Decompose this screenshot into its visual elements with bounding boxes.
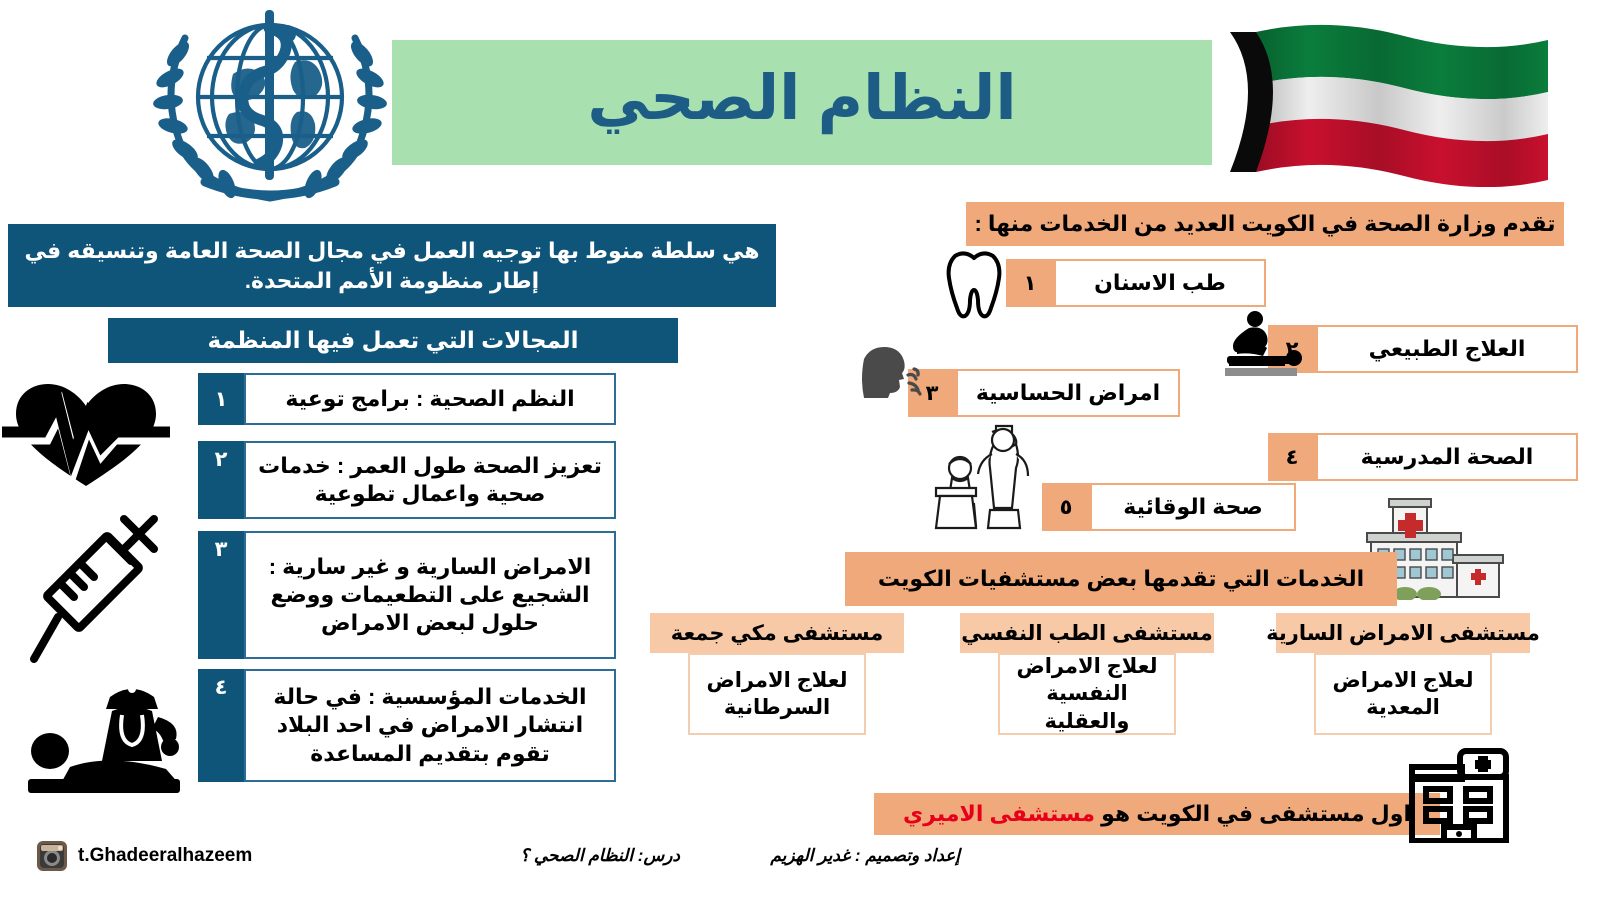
hospital-description: لعلاج الامراض السرطانية — [688, 653, 866, 735]
footer-handle[interactable]: t.Ghadeeralhazeem — [78, 841, 398, 871]
hospital-description: لعلاج الامراض النفسية والعقلية — [998, 653, 1176, 735]
first-hospital-prefix: اول مستشفى في الكويت هو — [1101, 801, 1411, 826]
area-number: ٣ — [198, 531, 244, 659]
service-number: ٥ — [1042, 483, 1090, 531]
who-logo — [145, 2, 395, 207]
hospital-card[interactable]: مستشفى مكي جمعة لعلاج الامراض السرطانية — [650, 613, 904, 735]
instagram-icon[interactable] — [36, 840, 68, 872]
sneezing-head-icon — [852, 345, 924, 400]
hospital-description: لعلاج الامراض المعدية — [1314, 653, 1492, 735]
page-title-banner: النظام الصحي — [392, 40, 1212, 165]
hospitals-header-text: الخدمات التي تقدمها بعض مستشفيات الكويت — [878, 566, 1364, 592]
area-label: الامراض السارية و غير سارية : الشجيع على… — [244, 531, 616, 659]
list-item[interactable]: تعزيز الصحة طول العمر : خدمات صحية واعما… — [198, 441, 616, 519]
kuwait-flag — [1218, 22, 1568, 187]
doctor-patient-icon — [10, 675, 185, 795]
who-areas-header-text: المجالات التي تعمل فيها المنظمة — [207, 327, 578, 354]
ministry-services-header: تقدم وزارة الصحة في الكويت العديد من الخ… — [966, 202, 1564, 246]
first-hospital-text: اول مستشفى في الكويت هو مستشفى الاميري — [903, 801, 1411, 827]
hospital-card[interactable]: مستشفى الطب النفسي لعلاج الامراض النفسية… — [960, 613, 1214, 735]
first-hospital-banner: اول مستشفى في الكويت هو مستشفى الاميري — [874, 793, 1440, 835]
service-label: العلاج الطبيعي — [1316, 325, 1578, 373]
hospital-name: مستشفى الطب النفسي — [960, 613, 1214, 653]
footer-credit: إعداد وتصميم : غدير الهزيم — [700, 841, 960, 871]
who-areas-header: المجالات التي تعمل فيها المنظمة — [108, 318, 678, 363]
who-definition-text: هي سلطة منوط بها توجيه العمل في مجال الص… — [22, 236, 762, 294]
area-number: ١ — [198, 373, 244, 425]
hospital-card[interactable]: مستشفى الامراض السارية لعلاج الامراض الم… — [1276, 613, 1530, 735]
hospital-outline-icon — [1404, 745, 1512, 843]
who-definition-box: هي سلطة منوط بها توجيه العمل في مجال الص… — [8, 224, 776, 307]
list-item[interactable]: امراض الحساسية ٣ — [908, 369, 1180, 417]
area-label: النظم الصحية : برامج توعية — [244, 373, 616, 425]
list-item[interactable]: النظم الصحية : برامج توعية ١ — [198, 373, 616, 425]
service-number: ٤ — [1268, 433, 1316, 481]
infographic-page: النظام الصحي — [0, 0, 1600, 900]
service-label: الصحة المدرسية — [1316, 433, 1578, 481]
heartbeat-icon — [2, 378, 170, 488]
service-label: طب الاسنان — [1054, 259, 1266, 307]
service-label: امراض الحساسية — [956, 369, 1180, 417]
list-item[interactable]: الصحة المدرسية ٤ — [1268, 433, 1578, 481]
area-number: ٤ — [198, 669, 244, 782]
page-title: النظام الصحي — [587, 68, 1016, 130]
list-item[interactable]: الخدمات المؤسسية : في حالة انتشار الامرا… — [198, 669, 616, 782]
list-item[interactable]: طب الاسنان ١ — [1006, 259, 1266, 307]
hospital-name: مستشفى الامراض السارية — [1276, 613, 1530, 653]
ministry-services-header-text: تقدم وزارة الصحة في الكويت العديد من الخ… — [974, 211, 1555, 237]
first-hospital-name: مستشفى الاميري — [903, 801, 1095, 826]
nurse-child-icon — [930, 418, 1040, 530]
hospital-name: مستشفى مكي جمعة — [650, 613, 904, 653]
physiotherapy-icon — [1215, 310, 1305, 378]
area-label: تعزيز الصحة طول العمر : خدمات صحية واعما… — [244, 441, 616, 519]
list-item[interactable]: صحة الوقائية ٥ — [1042, 483, 1296, 531]
footer-lesson: درس: النظام الصحي ؟ — [470, 841, 680, 871]
hospitals-header: الخدمات التي تقدمها بعض مستشفيات الكويت — [845, 552, 1397, 606]
list-item[interactable]: الامراض السارية و غير سارية : الشجيع على… — [198, 531, 616, 659]
service-label: صحة الوقائية — [1090, 483, 1296, 531]
area-label: الخدمات المؤسسية : في حالة انتشار الامرا… — [244, 669, 616, 782]
tooth-icon — [943, 250, 1005, 320]
syringe-icon — [28, 513, 163, 668]
list-item[interactable]: العلاج الطبيعي ٢ — [1268, 325, 1578, 373]
service-number: ١ — [1006, 259, 1054, 307]
area-number: ٢ — [198, 441, 244, 519]
